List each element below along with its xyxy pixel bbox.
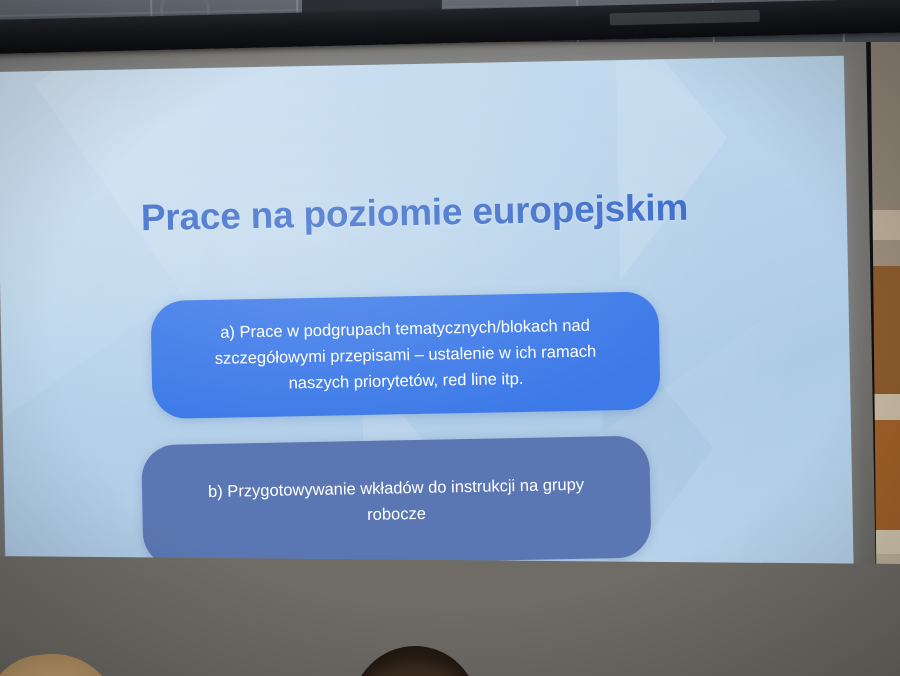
callout-b-text: b) Przygotowywanie wkładów do instrukcji… <box>208 472 585 531</box>
casing-notch <box>610 10 760 26</box>
callout-a-text: a) Prace w podgrupach tematycznych/bloka… <box>214 313 597 398</box>
chevron-watermark-icon <box>615 56 730 280</box>
projected-slide: Prace na poziomie europejskim a) Prace w… <box>0 56 854 584</box>
callout-box-b: b) Przygotowywanie wkładów do instrukcji… <box>141 436 651 568</box>
photo-scene: Prace na poziomie europejskim a) Prace w… <box>0 0 900 676</box>
callout-box-a: a) Prace w podgrupach tematycznych/bloka… <box>150 291 660 419</box>
